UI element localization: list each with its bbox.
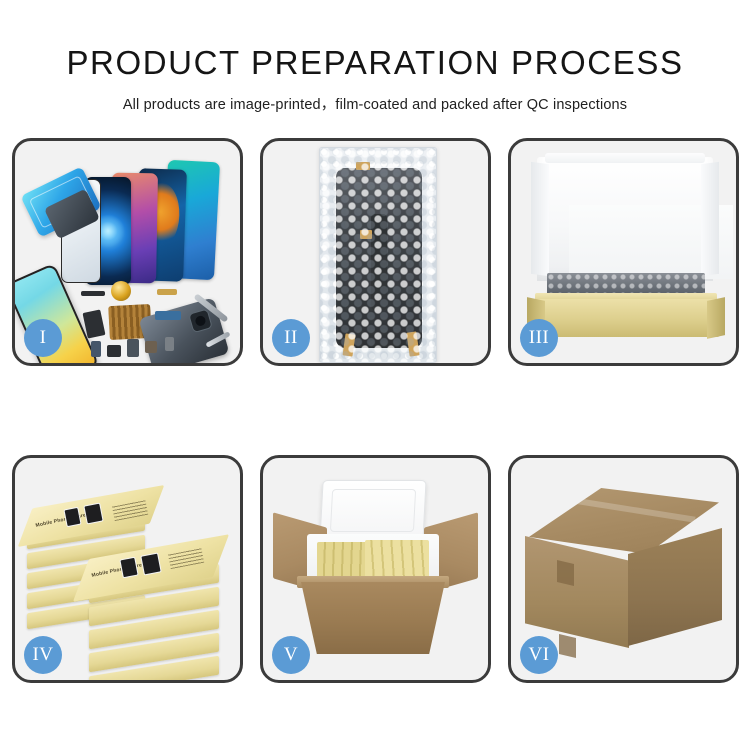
process-step-panel-6: VI <box>508 455 739 683</box>
page-title: PRODUCT PREPARATION PROCESS <box>0 44 750 82</box>
step-number-badge-3: III <box>520 319 558 357</box>
process-steps-grid: I II III <box>12 138 740 683</box>
process-step-panel-1: I <box>12 138 243 366</box>
product-preparation-process-page: PRODUCT PREPARATION PROCESS All products… <box>0 0 750 750</box>
page-subtitle: All products are image-printed，film-coat… <box>0 93 750 114</box>
step-number-badge-2: II <box>272 319 310 357</box>
process-step-panel-4: Mobile Phone Spare Parts Mobile Phone Sp… <box>12 455 243 683</box>
step-number-badge-1: I <box>24 319 62 357</box>
step-number-badge-6: VI <box>520 636 558 674</box>
header: PRODUCT PREPARATION PROCESS All products… <box>0 0 750 114</box>
step-number-badge-4: IV <box>24 636 62 674</box>
step-number-badge-5: V <box>272 636 310 674</box>
process-step-panel-2: II <box>260 138 491 366</box>
process-step-panel-5: V <box>260 455 491 683</box>
process-step-panel-3: III <box>508 138 739 366</box>
